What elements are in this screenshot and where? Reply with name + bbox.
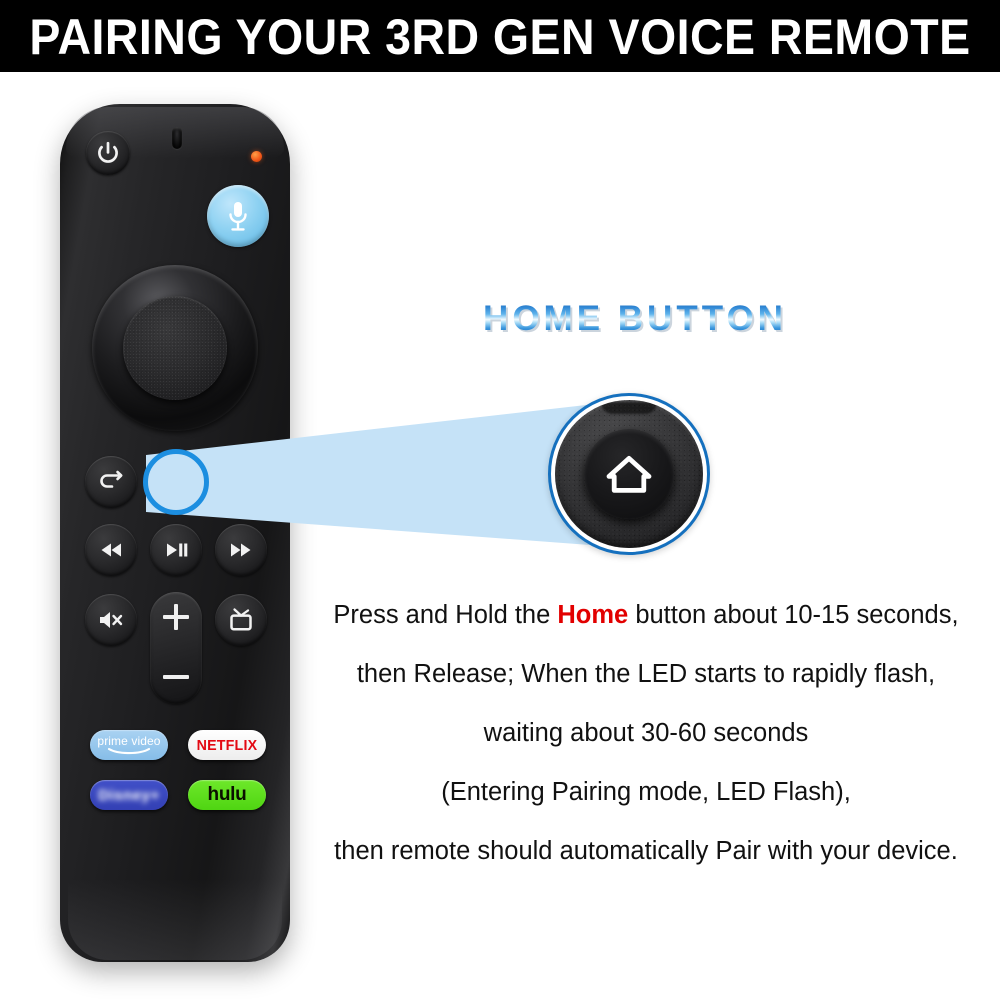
instruction-line-1: Press and Hold the Home button about 10-… <box>296 586 996 645</box>
app-button-hulu[interactable]: hulu <box>188 780 266 810</box>
instruction-line-4: (Entering Pairing mode, LED Flash), <box>296 763 996 822</box>
mute-button[interactable] <box>85 594 137 646</box>
play-pause-button[interactable] <box>150 524 202 576</box>
pairing-instruction-page: PAIRING YOUR 3RD GEN VOICE REMOTE <box>0 0 1000 1000</box>
instruction-text: Press and Hold the Home button about 10-… <box>296 586 996 881</box>
home-icon <box>602 450 656 498</box>
tv-antenna-icon <box>227 607 255 633</box>
volume-down-button[interactable] <box>163 664 189 690</box>
instruction-line-3: waiting about 30-60 seconds <box>296 704 996 763</box>
instruction-line-2: then Release; When the LED starts to rap… <box>296 645 996 704</box>
back-button[interactable] <box>85 456 137 508</box>
volume-up-button[interactable] <box>163 604 189 630</box>
page-title: PAIRING YOUR 3RD GEN VOICE REMOTE <box>29 10 970 62</box>
instruction-line-1-suffix: button about 10-15 seconds, <box>628 601 958 629</box>
magnified-ring-notch <box>601 402 657 414</box>
navigation-ring[interactable] <box>92 265 258 431</box>
microphone-icon <box>225 200 251 232</box>
netflix-logo: NETFLIX <box>197 737 258 754</box>
remote-bottom-highlight <box>68 870 282 960</box>
instruction-line-1-prefix: Press and Hold the <box>333 601 557 629</box>
fast-forward-button[interactable] <box>215 524 267 576</box>
rewind-button[interactable] <box>85 524 137 576</box>
hamburger-menu-icon <box>228 472 254 492</box>
speaker-mute-icon <box>97 609 125 631</box>
menu-button[interactable] <box>215 456 267 508</box>
live-tv-button[interactable] <box>215 594 267 646</box>
play-pause-icon <box>163 541 189 559</box>
home-button[interactable] <box>150 456 202 508</box>
magnified-outer-ring <box>555 400 703 548</box>
status-led <box>251 151 262 162</box>
back-arrow-icon <box>98 470 124 494</box>
app-button-netflix[interactable]: NETFLIX <box>188 730 266 760</box>
instruction-line-5: then remote should automatically Pair wi… <box>296 822 996 881</box>
disney-plus-logo: Disney+ <box>98 787 159 804</box>
header-banner: PAIRING YOUR 3RD GEN VOICE REMOTE <box>0 0 1000 72</box>
voice-remote-body: prime video NETFLIX Disney+ hulu <box>60 104 290 962</box>
prime-smile-icon <box>107 747 151 755</box>
rewind-icon <box>97 541 125 559</box>
hulu-logo: hulu <box>208 784 247 806</box>
volume-rocker[interactable] <box>150 592 202 704</box>
home-icon <box>163 470 189 494</box>
select-button[interactable] <box>123 296 227 400</box>
power-button[interactable] <box>86 131 130 175</box>
app-button-disney-plus[interactable]: Disney+ <box>90 780 168 810</box>
instruction-home-keyword: Home <box>557 601 628 629</box>
power-icon <box>95 140 121 166</box>
microphone-hole <box>172 127 182 149</box>
magnified-home-button <box>548 393 710 555</box>
app-button-prime-video[interactable]: prime video <box>90 730 168 760</box>
prime-video-logo: prime video <box>97 735 160 755</box>
magnified-home-key <box>584 429 674 519</box>
callout-title: HOME BUTTON <box>470 300 800 339</box>
fast-forward-icon <box>227 541 255 559</box>
voice-button[interactable] <box>207 185 269 247</box>
